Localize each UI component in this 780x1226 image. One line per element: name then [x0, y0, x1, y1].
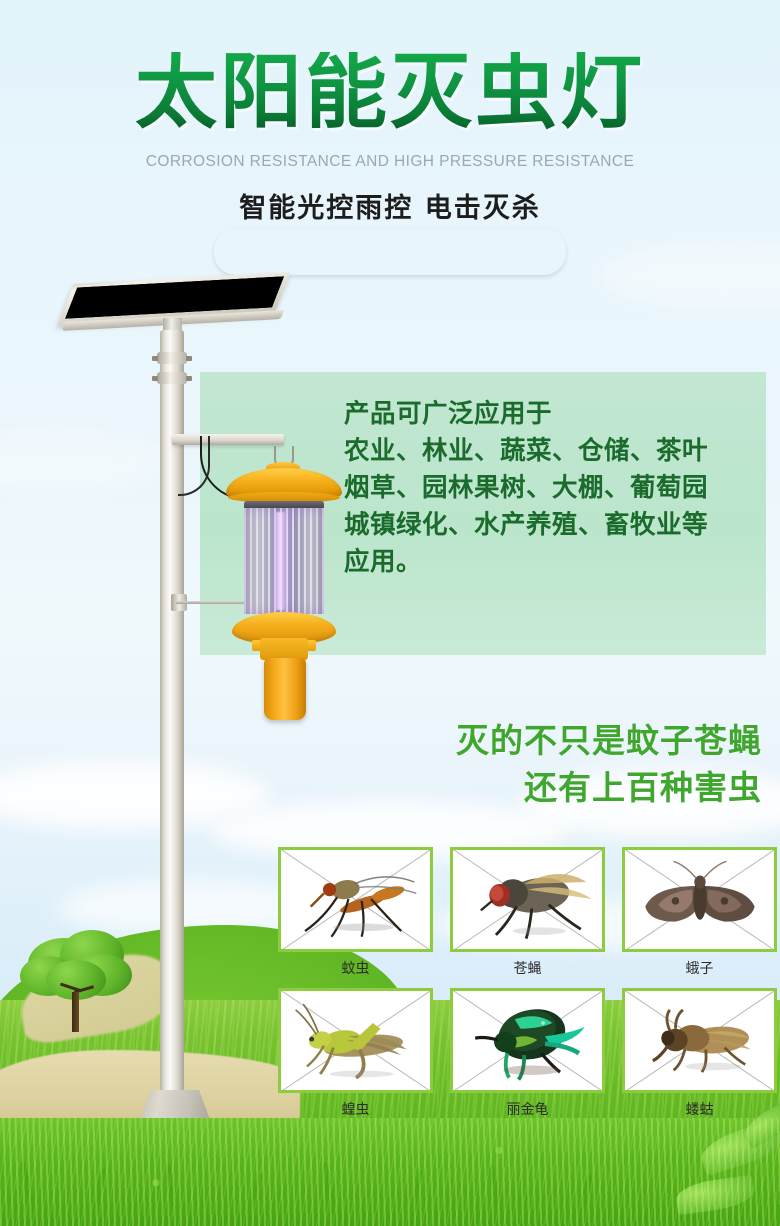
pole-bolt [186, 356, 192, 361]
application-line: 农业、林业、蔬菜、仓储、茶叶 [344, 433, 754, 470]
insect-grid: 蚊虫 苍蝇 [278, 847, 778, 1119]
insect-cell: 蚊虫 [278, 847, 433, 978]
insect-cell: 苍蝇 [450, 847, 605, 978]
mosquito-image [281, 850, 430, 949]
pole-joint [157, 372, 187, 384]
english-subtitle: CORROSION RESISTANCE AND HIGH PRESSURE R… [0, 153, 780, 171]
bottom-grass-band [0, 1118, 780, 1226]
insect-card[interactable] [450, 847, 605, 952]
grass-blade [163, 1164, 177, 1219]
grass-blade [18, 1161, 37, 1219]
grass-blade [486, 1165, 505, 1219]
pole-bolt [186, 376, 192, 381]
headline-line-1: 灭的不只是蚊子苍蝇 [0, 718, 762, 765]
moth-image [625, 850, 774, 949]
collection-bucket [264, 658, 306, 720]
application-line: 烟草、园林果树、大棚、葡萄园 [344, 470, 754, 507]
tree-illustration [16, 930, 141, 1040]
insect-card[interactable] [278, 988, 433, 1093]
secondary-headline: 灭的不只是蚊子苍蝇 还有上百种害虫 [0, 718, 762, 812]
insect-card[interactable] [622, 988, 777, 1093]
chinese-subtitle: 智能光控雨控 电击灭杀 [0, 186, 780, 225]
grass-leaf [674, 1175, 755, 1216]
insect-label: 蝗虫 [278, 1099, 433, 1119]
grass-blade [92, 1168, 106, 1218]
application-line: 产品可广泛应用于 [344, 396, 754, 433]
grass-blade [578, 1174, 592, 1218]
insect-label: 蚊虫 [278, 958, 433, 978]
uv-light-tube [274, 512, 286, 610]
page-title: 太阳能灭虫灯 [0, 52, 780, 134]
pole-joint [157, 352, 187, 364]
application-line: 城镇绿化、水产养殖、畜牧业等 [344, 507, 754, 544]
insect-card[interactable] [450, 988, 605, 1093]
insect-label: 苍蝇 [450, 958, 605, 978]
fly-image [453, 850, 602, 949]
grass-blade [320, 1162, 337, 1218]
pole-bolt [152, 356, 158, 361]
grass-blade [246, 1173, 263, 1219]
insect-cell: 丽金龟 [450, 988, 605, 1119]
product-advertisement-page: 太阳能灭虫灯 CORROSION RESISTANCE AND HIGH PRE… [0, 0, 780, 1226]
insect-cell: 蝗虫 [278, 988, 433, 1119]
insect-killer-lamp [226, 462, 342, 702]
grass-blade [412, 1170, 423, 1218]
insect-cell: 蛾子 [622, 847, 777, 978]
application-text: 产品可广泛应用于 农业、林业、蔬菜、仓储、茶叶 烟草、园林果树、大棚、葡萄园 城… [344, 396, 754, 581]
feature-badges: 使用更长久 电网加粗升级 [0, 228, 780, 275]
insect-cell: 蝼蛄 [622, 988, 777, 1119]
mole-cricket-image [625, 991, 774, 1090]
lamp-neck [260, 638, 308, 660]
locust-image [281, 991, 430, 1090]
insect-card[interactable] [278, 847, 433, 952]
insect-card[interactable] [622, 847, 777, 952]
grass-leaf [697, 1118, 780, 1177]
pole-bolt [152, 376, 158, 381]
insect-label: 蝼蛄 [622, 1099, 777, 1119]
headline-line-2: 还有上百种害虫 [0, 765, 762, 812]
application-line: 应用。 [344, 544, 754, 581]
chafer-beetle-image [453, 991, 602, 1090]
insect-label: 蛾子 [622, 958, 777, 978]
insect-label: 丽金龟 [450, 1099, 605, 1119]
